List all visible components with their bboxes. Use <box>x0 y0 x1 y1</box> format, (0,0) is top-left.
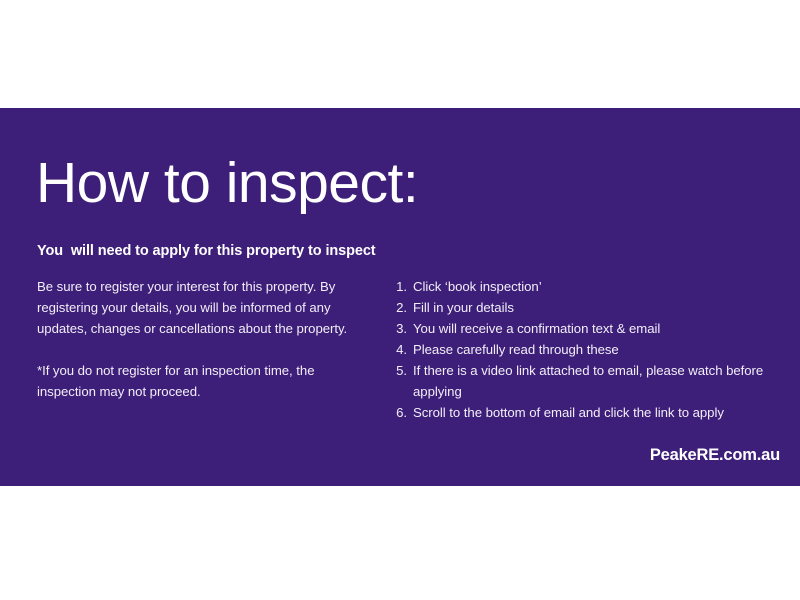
step-number: 3. <box>393 318 407 339</box>
banner-graphic: How to inspect: You will need to apply f… <box>0 0 800 600</box>
brand-website: PeakeRE.com.au <box>650 446 780 465</box>
step-number: 1. <box>393 276 407 297</box>
letterbox-top <box>0 0 800 108</box>
step-number: 2. <box>393 297 407 318</box>
disclaimer-paragraph: *If you do not register for an inspectio… <box>37 360 367 402</box>
list-item: 5.If there is a video link attached to e… <box>393 360 783 402</box>
list-item: 2.Fill in your details <box>393 297 783 318</box>
letterbox-bottom <box>0 486 800 600</box>
step-number: 5. <box>393 360 407 381</box>
right-column: 1.Click ‘book inspection’ 2.Fill in your… <box>393 276 783 423</box>
step-text: Scroll to the bottom of email and click … <box>413 405 724 420</box>
list-item: 3.You will receive a confirmation text &… <box>393 318 783 339</box>
page-title: How to inspect: <box>36 155 418 212</box>
step-number: 4. <box>393 339 407 360</box>
step-text: Fill in your details <box>413 300 514 315</box>
list-item: 6.Scroll to the bottom of email and clic… <box>393 402 783 423</box>
intro-paragraph: Be sure to register your interest for th… <box>37 276 367 339</box>
step-text: Click ‘book inspection’ <box>413 279 542 294</box>
step-text: If there is a video link attached to ema… <box>413 363 763 399</box>
list-item: 1.Click ‘book inspection’ <box>393 276 783 297</box>
purple-banner: How to inspect: You will need to apply f… <box>0 108 800 486</box>
steps-list: 1.Click ‘book inspection’ 2.Fill in your… <box>393 276 783 423</box>
step-number: 6. <box>393 402 407 423</box>
step-text: Please carefully read through these <box>413 342 619 357</box>
list-item: 4.Please carefully read through these <box>393 339 783 360</box>
step-text: You will receive a confirmation text & e… <box>413 321 660 336</box>
left-column: Be sure to register your interest for th… <box>37 276 367 402</box>
subheading: You will need to apply for this property… <box>37 243 376 259</box>
